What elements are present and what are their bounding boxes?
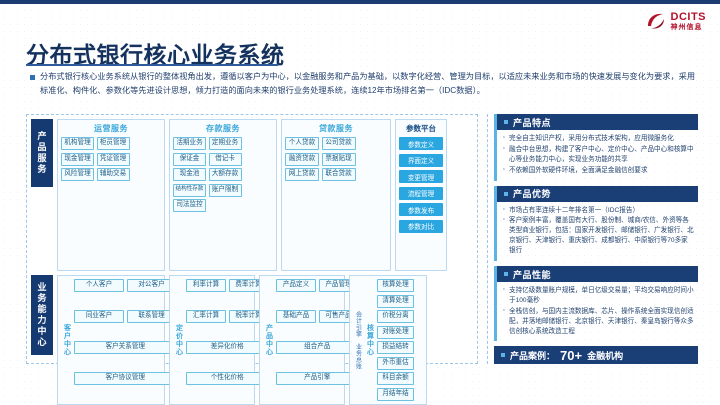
section-product-advantages: 产品优势 市场占有率连续十二年排名第一（IDC报告） 客户案例丰富，覆盖国有大行… — [494, 186, 698, 261]
service-cell[interactable]: 联合贷款 — [322, 168, 356, 181]
param-cell[interactable]: 变更管理 — [399, 170, 443, 183]
param-platform: 参数平台 参数定义 界面定义 变更管理 流程管理 参数发布 参数对比 — [395, 119, 447, 271]
service-cell[interactable]: 借记卡 — [209, 153, 242, 166]
accounting-engine-label: 会计引擎 业务总账 — [353, 279, 362, 401]
center-customer: 客户中心 个人客户 对公客户 同业客户 联系管理 客户关系管理 客户协议管理 — [57, 275, 165, 405]
bullet-item: 完全自主知识产权，采用分布式技术架构，应用微服务化 — [503, 134, 694, 144]
section-product-performance: 产品性能 支持亿级数量账户规模，单日亿级交易量；平均交易响应时间小于100毫秒 … — [494, 266, 698, 341]
center-product: 产品中心 产品定义 产品管理 基础产品 可售产品 组合产品 产品引擎 — [259, 275, 345, 405]
bullet-square-icon — [504, 120, 508, 124]
param-platform-title: 参数平台 — [399, 123, 443, 134]
top-rule — [0, 0, 720, 4]
service-cell[interactable]: 个人贷款 — [285, 137, 319, 150]
center-cell[interactable]: 损益结转 — [377, 341, 414, 354]
brand-name-en: DCITS — [671, 12, 707, 23]
service-cell[interactable]: 风险管理 — [61, 168, 94, 181]
service-cell[interactable]: 融资贷款 — [285, 153, 319, 166]
center-title: 产品中心 — [263, 279, 274, 401]
center-cell[interactable]: 汇率计算 — [186, 310, 226, 323]
service-cell[interactable]: 司法监控 — [173, 199, 206, 212]
layer-label-capability-center: 业务能力中心 — [31, 275, 53, 355]
group-loan: 贷款服务 个人贷款 公司贷款 融资贷款 票据贴现 网上贷款 联合贷款 — [281, 119, 391, 271]
center-cell[interactable]: 基础产品 — [276, 310, 316, 323]
product-case-bar: 产品案例： 70+ 金融机构 — [494, 346, 698, 364]
service-cell[interactable]: 机构管理 — [61, 137, 94, 150]
bullet-item: 支持亿级数量账户规模，单日亿级交易量；平均交易响应时间小于100毫秒 — [503, 286, 694, 306]
section-bullets: 市场占有率连续十二年排名第一（IDC报告） 客户案例丰富，覆盖国有大行、股份制、… — [497, 202, 698, 261]
center-cell[interactable]: 价税分离 — [377, 310, 414, 323]
bullet-item: 市场占有率连续十二年排名第一（IDC报告） — [503, 206, 694, 216]
center-accounting: 会计引擎 业务总账 核算中心 核算处理 清算处理 价税分离 对账处理 损益结转 … — [349, 275, 427, 405]
service-cell[interactable]: 现金管理 — [61, 153, 94, 166]
param-cell[interactable]: 参数定义 — [399, 137, 443, 150]
title-underline — [26, 64, 278, 66]
service-cell[interactable]: 大额存款 — [209, 168, 242, 181]
bullet-square-icon — [30, 75, 35, 80]
case-label: 产品案例： — [510, 349, 555, 362]
center-cell[interactable]: 产品引擎 — [276, 372, 359, 385]
dcits-swoosh-icon — [645, 10, 667, 32]
center-title: 客户中心 — [61, 279, 72, 401]
center-cell[interactable]: 产品定义 — [276, 279, 316, 292]
center-cell[interactable]: 组合产品 — [276, 341, 359, 354]
bullet-item: 客户案例丰富，覆盖国有大行、股份制、城商/农信、外资等各类型商业银行，包括：国家… — [503, 216, 694, 256]
center-pricing: 定价中心 利率计算 费率计算 汇率计算 税率计算 差异化价格 个性化价格 — [169, 275, 255, 405]
center-cell[interactable]: 客户协议管理 — [74, 372, 177, 385]
service-cell[interactable]: 结构性存款 — [173, 184, 206, 197]
center-cell[interactable]: 利率计算 — [186, 279, 226, 292]
layer-label-product-service: 产品服务 — [31, 119, 53, 187]
bullet-item: 全栈信创，与国内主流数据库、芯片、操作系统全面实现信创适配，并落地邮储银行、北京… — [503, 307, 694, 337]
case-count: 70+ — [560, 348, 582, 363]
center-cell[interactable]: 个性化价格 — [186, 372, 269, 385]
architecture-diagram: 产品服务 运营服务 机构管理 柜员管理 现金管理 凭证管理 风险管理 辅助交易 … — [26, 114, 478, 364]
service-cell[interactable]: 网上贷款 — [285, 168, 319, 181]
group-title: 存款服务 — [173, 123, 273, 134]
center-cell[interactable]: 客户关系管理 — [74, 341, 177, 354]
bullet-item: 不依赖国外软硬件环境，全面满足金融信创要求 — [503, 166, 694, 176]
service-cell[interactable]: 辅助交易 — [97, 168, 130, 181]
section-product-features: 产品特点 完全自主知识产权，采用分布式技术架构，应用微服务化 融合中台思想，构建… — [494, 114, 698, 181]
intro-text: 分布式银行核心业务系统从银行的整体视角出发，遵循以客户为中心，以金融服务和产品为… — [40, 70, 698, 97]
section-header: 产品特点 — [497, 114, 698, 130]
section-title: 产品优势 — [513, 187, 551, 200]
service-cell[interactable]: 现金池 — [173, 168, 206, 181]
brand-name-cn: 神州信息 — [671, 24, 707, 31]
service-cell[interactable]: 保证金 — [173, 153, 206, 166]
group-title: 贷款服务 — [285, 123, 387, 134]
group-deposit: 存款服务 活期业务 定期业务 保证金 借记卡 现金池 大额存款 结构性存款 账户… — [169, 119, 277, 271]
case-suffix: 金融机构 — [587, 349, 623, 362]
service-cell[interactable]: 账户限制 — [209, 184, 242, 197]
center-cell[interactable]: 个人客户 — [74, 279, 124, 292]
section-title: 产品特点 — [513, 116, 551, 129]
service-cell[interactable]: 定期业务 — [209, 137, 242, 150]
param-cell[interactable]: 界面定义 — [399, 154, 443, 167]
center-title: 核算中心 — [364, 279, 375, 401]
center-cell[interactable]: 同业客户 — [74, 310, 124, 323]
section-title: 产品性能 — [513, 268, 551, 281]
service-cell[interactable]: 公司贷款 — [322, 137, 356, 150]
center-cell[interactable]: 差异化价格 — [186, 341, 269, 354]
param-cell[interactable]: 参数对比 — [399, 220, 443, 233]
bullet-square-icon — [504, 192, 508, 196]
group-operations: 运营服务 机构管理 柜员管理 现金管理 凭证管理 风险管理 辅助交易 — [57, 119, 165, 271]
center-cell[interactable]: 对账处理 — [377, 326, 414, 339]
center-cell[interactable]: 核算处理 — [377, 279, 414, 292]
center-cell[interactable]: 科目余额 — [377, 372, 414, 385]
service-cell[interactable]: 活期业务 — [173, 137, 206, 150]
brand-logo: DCITS 神州信息 — [645, 10, 707, 32]
center-cell[interactable]: 清算处理 — [377, 295, 414, 308]
intro-paragraph: 分布式银行核心业务系统从银行的整体视角出发，遵循以客户为中心，以金融服务和产品为… — [30, 70, 698, 97]
section-header: 产品优势 — [497, 186, 698, 202]
center-title: 定价中心 — [173, 279, 184, 401]
bullet-item: 融合中台思想，构建了客户中心、定价中心、产品中心和核算中心等业务能力中心，实现业… — [503, 145, 694, 165]
section-bullets: 支持亿级数量账户规模，单日亿级交易量；平均交易响应时间小于100毫秒 全栈信创，… — [497, 282, 698, 341]
service-cell[interactable]: 票据贴现 — [322, 153, 356, 166]
bullet-square-icon — [504, 272, 508, 276]
group-title: 运营服务 — [61, 123, 161, 134]
bullet-square-icon — [501, 353, 505, 357]
service-cell[interactable]: 凭证管理 — [97, 153, 130, 166]
section-header: 产品性能 — [497, 266, 698, 282]
section-bullets: 完全自主知识产权，采用分布式技术架构，应用微服务化 融合中台思想，构建了客户中心… — [497, 130, 698, 181]
info-panel: 产品特点 完全自主知识产权，采用分布式技术架构，应用微服务化 融合中台思想，构建… — [487, 114, 698, 364]
service-cell[interactable]: 柜员管理 — [97, 137, 130, 150]
param-cell[interactable]: 参数发布 — [399, 203, 443, 216]
center-cell[interactable]: 月结年结 — [377, 388, 414, 401]
param-cell[interactable]: 流程管理 — [399, 187, 443, 200]
center-cell[interactable]: 外币重估 — [377, 357, 414, 370]
